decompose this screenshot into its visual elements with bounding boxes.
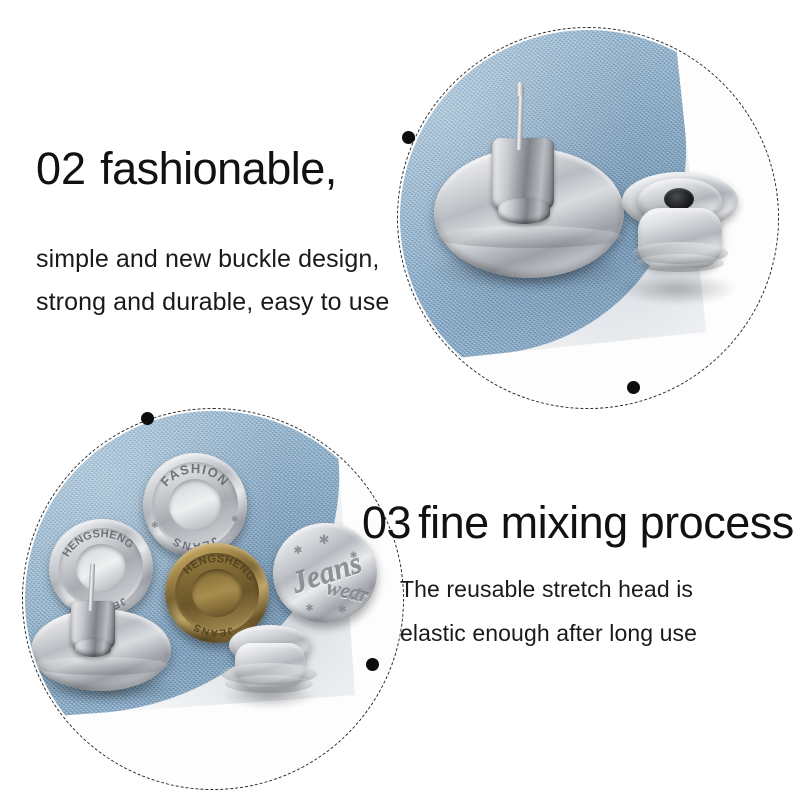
headline-02: 02fashionable, — [36, 143, 337, 195]
dot-marker-top-left — [402, 131, 415, 144]
headline-03-number: 03 — [362, 497, 411, 548]
headline-02-word: fashionable, — [100, 143, 337, 194]
dot-marker-top-bottom — [627, 381, 640, 394]
body-02-line-2: strong and durable, easy to use — [36, 288, 389, 317]
dashed-circle-top — [397, 27, 779, 409]
dashed-circle-bottom — [22, 408, 404, 790]
headline-03-word: fine mixing process — [418, 497, 794, 548]
body-03-line-2: elastic enough after long use — [400, 620, 697, 647]
headline-03: 03fine mixing process — [362, 497, 794, 549]
body-03-line-1: The reusable stretch head is — [400, 576, 693, 603]
dot-marker-bottom-top — [141, 412, 154, 425]
infographic-stage: FASHION JEANS ✱ ✱ HENGSHENG — [0, 0, 800, 800]
dot-marker-bottom-right — [366, 658, 379, 671]
body-02-line-1: simple and new buckle design, — [36, 245, 379, 274]
headline-02-number: 02 — [36, 143, 86, 194]
